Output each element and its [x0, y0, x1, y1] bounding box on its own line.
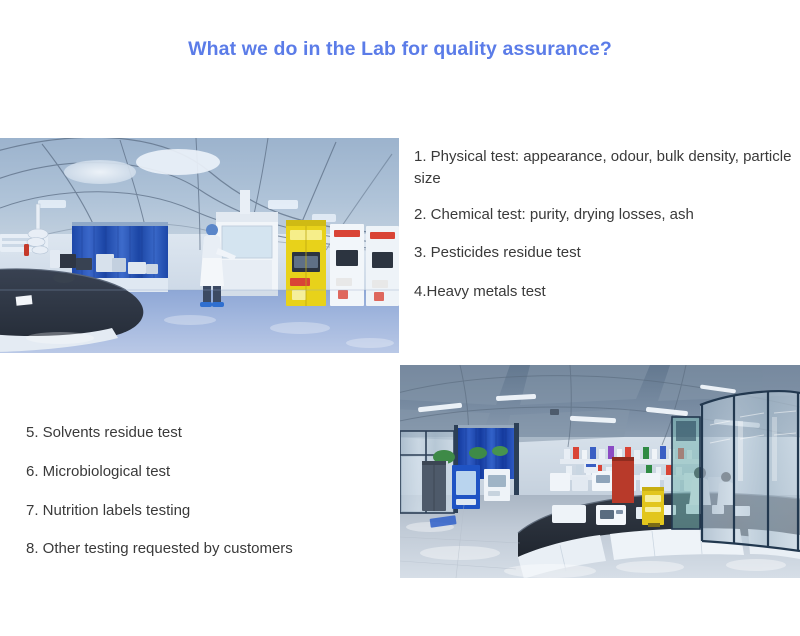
curved-glass-enclosure: [700, 391, 800, 551]
test-item: 3. Pesticides residue test: [414, 242, 800, 264]
lower-test-list: 5. Solvents residue test 6. Microbiologi…: [26, 422, 396, 560]
test-item: 4.Heavy metals test: [414, 281, 800, 303]
test-item: 6. Microbiological test: [26, 461, 396, 483]
lab-panorama-top-graphic: [0, 138, 399, 353]
test-item: 2. Chemical test: purity, drying losses,…: [414, 204, 800, 226]
lab-photo-bottom: [400, 365, 800, 578]
test-item: 5. Solvents residue test: [26, 422, 396, 444]
lab-panorama-bottom-graphic: [400, 365, 800, 578]
test-item: 1. Physical test: appearance, odour, bul…: [414, 146, 800, 190]
upper-test-list: 1. Physical test: appearance, odour, bul…: [414, 146, 800, 303]
test-item: 8. Other testing requested by customers: [26, 538, 396, 560]
test-item: 7. Nutrition labels testing: [26, 500, 396, 522]
lab-photo-top: [0, 138, 399, 353]
page-title: What we do in the Lab for quality assura…: [0, 38, 800, 61]
